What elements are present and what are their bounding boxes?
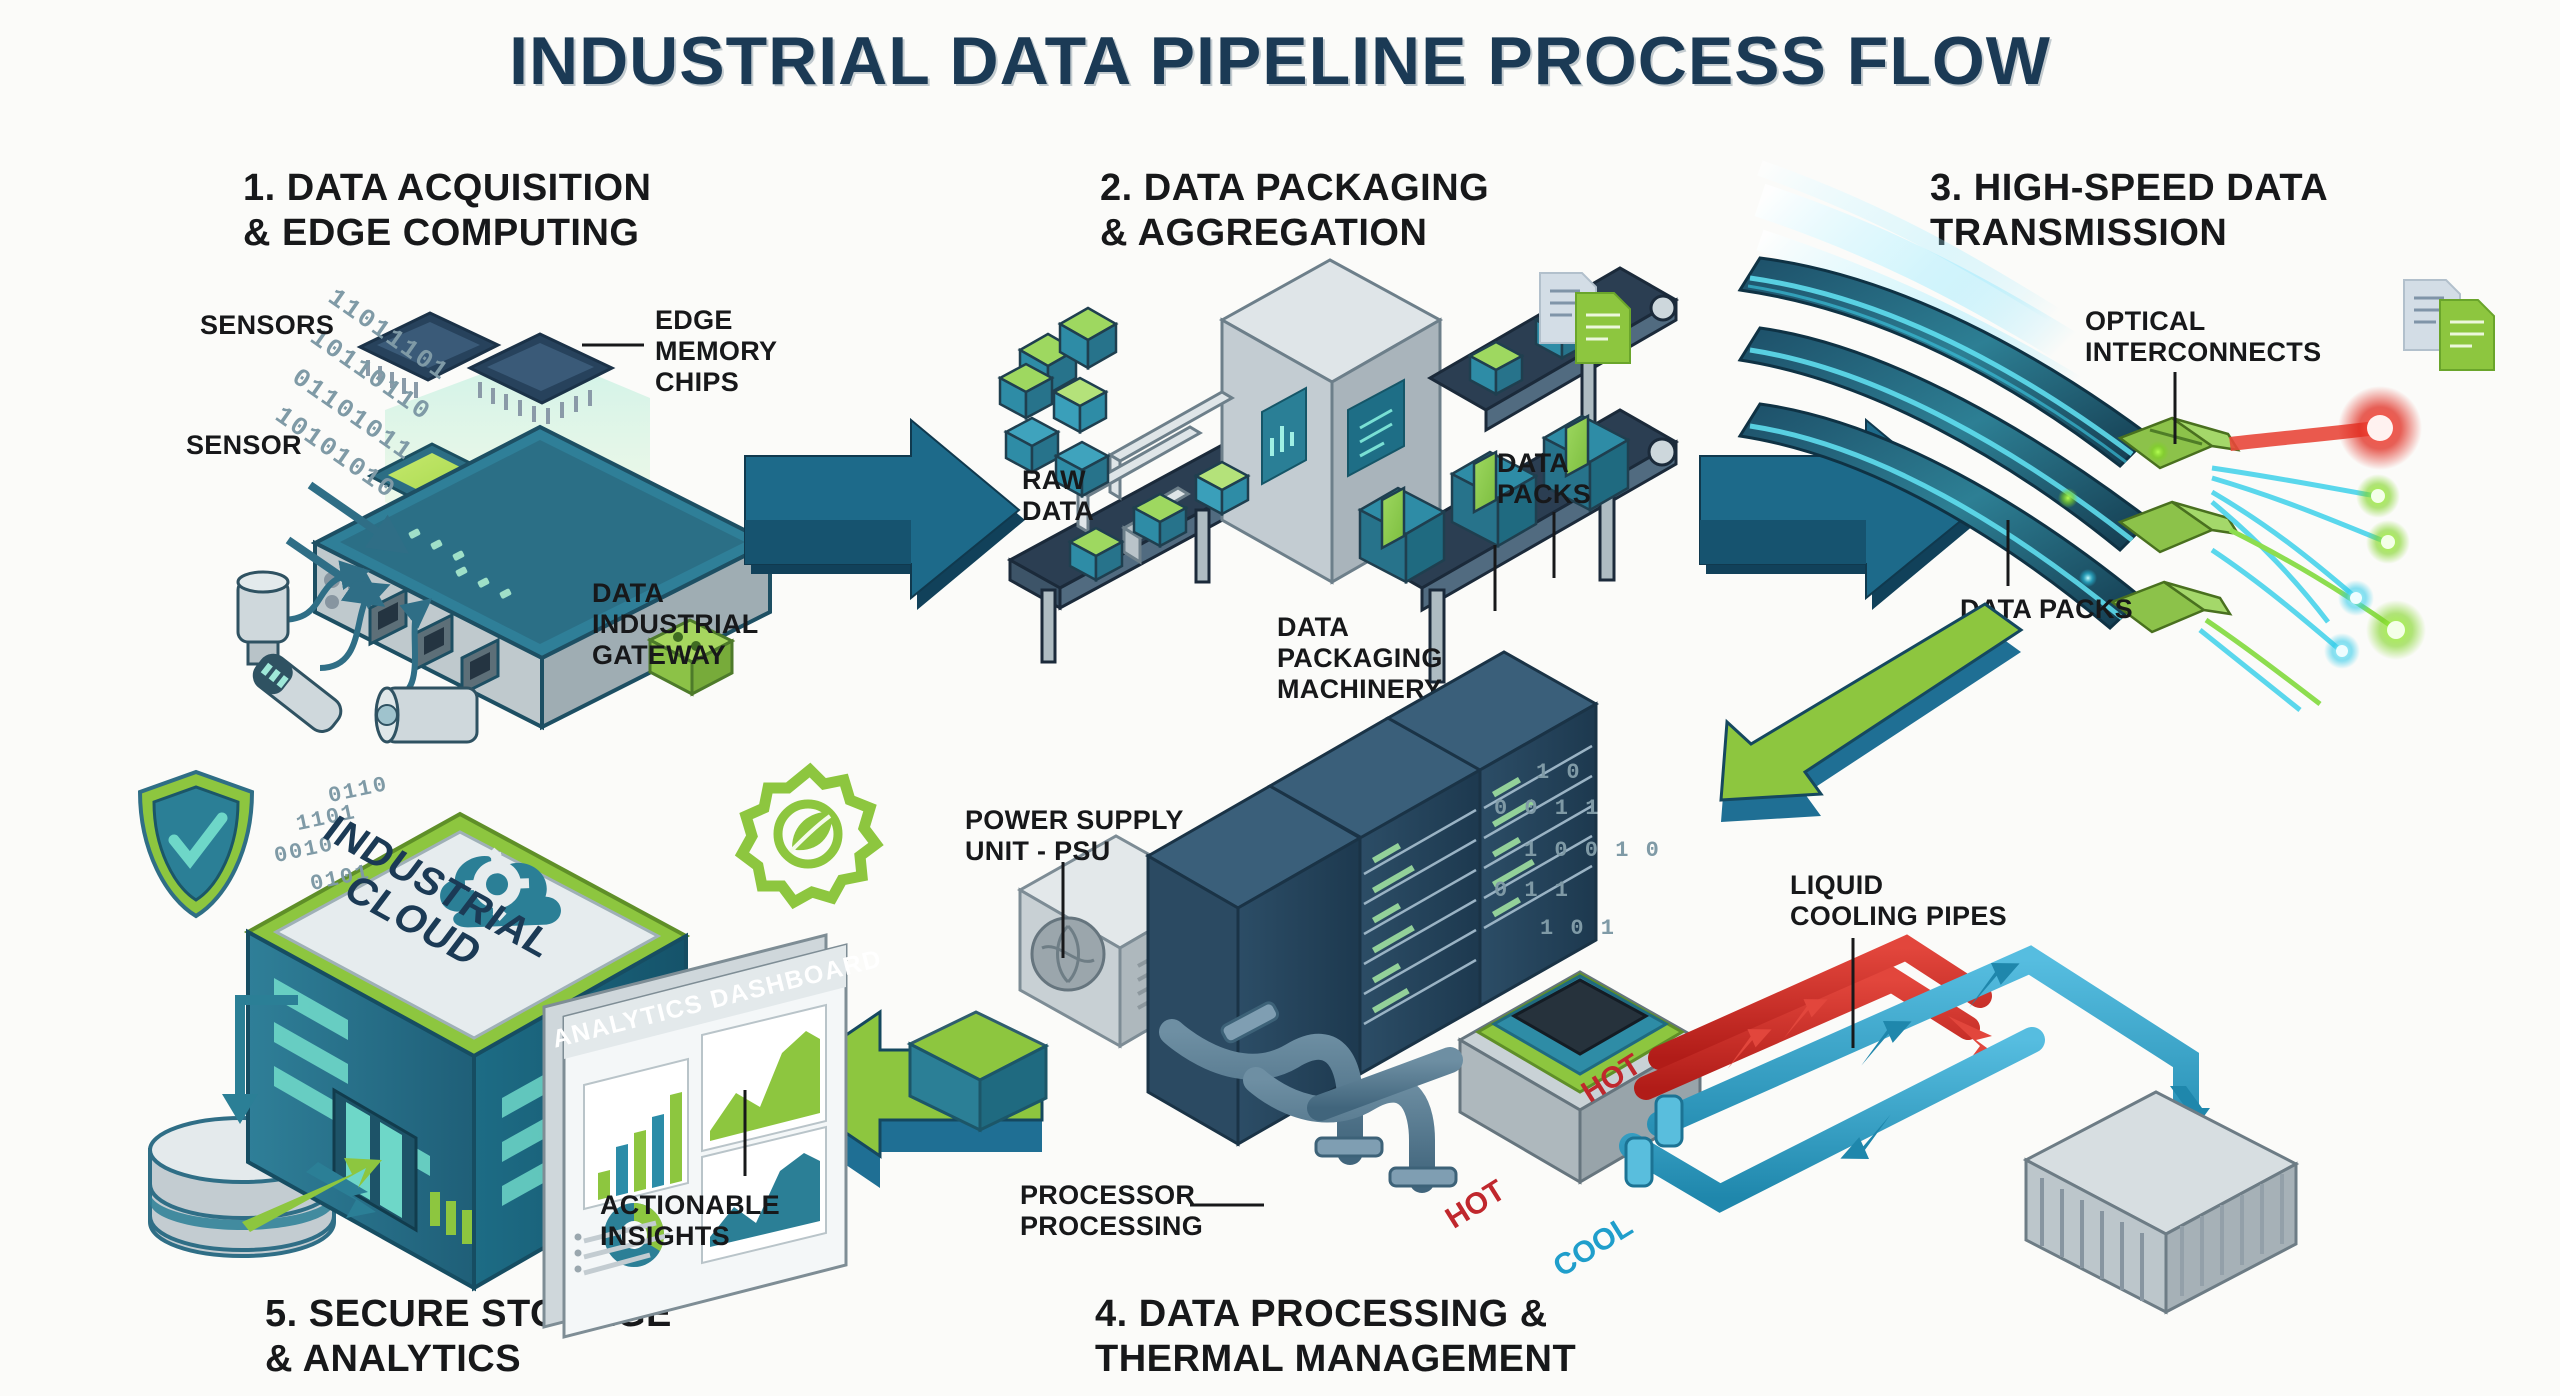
label-psu-line1: POWER SUPPLY [965,805,1184,836]
dashboard-bar-chart [584,1059,688,1209]
label-optical-line2: INTERCONNECTS [2085,337,2321,368]
label-insights-line2: INSIGHTS [600,1221,780,1252]
step-2-heading-line1: 2. DATA PACKAGING [1100,166,1489,211]
leader-processor [1190,1200,1270,1210]
label-pipes-line2: COOLING PIPES [1790,901,2007,932]
label-raw-data-line2: DATA [1022,496,1094,527]
eco-gear-icon [742,770,876,902]
label-psu-line2: UNIT - PSU [965,836,1184,867]
step-4-heading: 4. DATA PROCESSING & THERMAL MANAGEMENT [1095,1292,1576,1382]
leader-data-packs [1549,512,1559,582]
leader-psu [1058,862,1068,962]
leader-optical-interconnects [2170,372,2180,448]
label-gateway-line3: GATEWAY [592,640,759,671]
label-gateway-line1: DATA [592,578,759,609]
data-pack-cube-small [900,1000,1060,1140]
security-shield-icon [140,772,252,916]
step-2-heading: 2. DATA PACKAGING & AGGREGATION [1100,166,1489,256]
label-edge-memory-line3: CHIPS [655,367,777,398]
page-title: INDUSTRIAL DATA PIPELINE PROCESS FLOW [0,22,2560,100]
sensor-device-3 [376,688,477,742]
step-1-heading: 1. DATA ACQUISITION & EDGE COMPUTING [243,166,652,256]
document-icons-packaging [1536,265,1646,375]
label-sensors: SENSORS [200,310,334,341]
label-optical-line1: OPTICAL [2085,306,2321,337]
leader-actionable-insights [740,1090,750,1180]
binary-panel4-5: 1 0 1 [1540,916,1616,941]
label-pipes-line1: LIQUID [1790,870,2007,901]
label-gateway-line2: INDUSTRIAL [592,609,759,640]
label-sensor: SENSOR [186,430,302,461]
binary-panel4-4: 0 1 1 [1494,878,1570,903]
label-data-industrial-gateway: DATA INDUSTRIAL GATEWAY [592,578,759,670]
heat-exchanger [2026,1092,2296,1312]
document-icons-transmission [2400,272,2510,382]
label-processor-line2: PROCESSING [1020,1211,1203,1242]
label-edge-memory-line2: MEMORY [655,336,777,367]
step-2-heading-line2: & AGGREGATION [1100,211,1489,256]
illustration-datacenter-cooling [1020,740,2360,1300]
binary-panel4-1: 1 0 [1536,760,1582,785]
leader-data-packs-optical [2003,520,2013,590]
label-raw-data: RAW DATA [1022,465,1094,527]
label-insights-line1: ACTIONABLE [600,1190,780,1221]
label-packaging-machinery: DATA PACKAGING MACHINERY [1277,612,1443,704]
label-data-packs-line2: PACKS [1497,479,1591,510]
sensor-device-2 [249,650,347,737]
binary-panel4-2: 0 0 1 1 [1494,796,1600,821]
label-power-supply-unit: POWER SUPPLY UNIT - PSU [965,805,1184,867]
label-edge-memory-chips: EDGE MEMORY CHIPS [655,305,777,397]
sensor-device-1 [238,572,288,664]
binary-panel4-3: 1 0 0 1 0 [1524,838,1661,863]
infographic-canvas: INDUSTRIAL DATA PIPELINE PROCESS FLOW 1.… [0,0,2560,1396]
label-machinery-line1: DATA [1277,612,1443,643]
step-1-heading-line1: 1. DATA ACQUISITION [243,166,652,211]
leader-packaging-machinery [1490,545,1500,611]
step-1-heading-line2: & EDGE COMPUTING [243,211,652,256]
label-edge-memory-line1: EDGE [655,305,777,336]
label-raw-data-line1: RAW [1022,465,1094,496]
step-3-heading-line1: 3. HIGH-SPEED DATA [1930,166,2328,211]
step-4-heading-line2: THERMAL MANAGEMENT [1095,1337,1576,1382]
leader-edge-memory [582,340,652,350]
emitted-fibers [2200,428,2394,710]
label-actionable-insights: ACTIONABLE INSIGHTS [600,1190,780,1252]
label-liquid-cooling-pipes: LIQUID COOLING PIPES [1790,870,2007,932]
label-machinery-line2: PACKAGING [1277,643,1443,674]
leader-liquid-cooling-pipes [1848,938,1858,1053]
label-optical-interconnects: OPTICAL INTERCONNECTS [2085,306,2321,368]
label-data-packs-packaging: DATA PACKS [1497,448,1591,510]
label-data-packs-line1: DATA [1497,448,1591,479]
